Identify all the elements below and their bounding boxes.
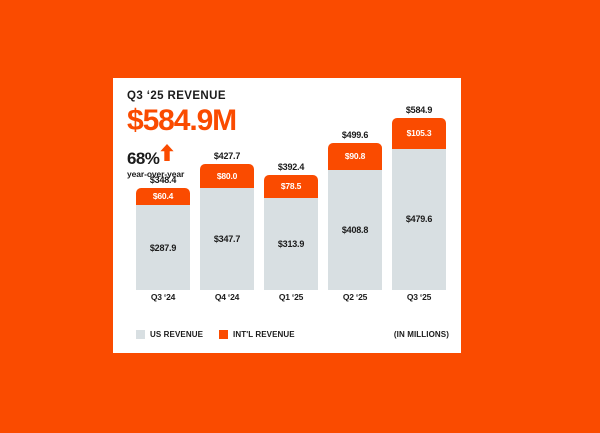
- category-label: Q2 ‘25: [328, 292, 382, 302]
- category-label: Q3 ‘25: [392, 292, 446, 302]
- bar-total-label: $348.4: [136, 175, 190, 188]
- legend-item-intl: INT'L REVENUE: [219, 330, 295, 339]
- bar-group[interactable]: $392.4$78.5$313.9: [264, 175, 318, 290]
- legend-swatch-us-icon: [136, 330, 145, 339]
- bar-segment-intl[interactable]: $105.3: [392, 118, 446, 149]
- legend-swatch-intl-icon: [219, 330, 228, 339]
- bar-segment-us[interactable]: $347.7: [200, 188, 254, 290]
- category-axis: Q3 ‘24Q4 ‘24Q1 ‘25Q2 ‘25Q3 ‘25: [136, 292, 446, 306]
- revenue-chart-card: Q3 ‘25 REVENUE $584.9M 68% year-over-yea…: [113, 78, 461, 353]
- units-note: (IN MILLIONS): [394, 330, 449, 339]
- bar-segment-us[interactable]: $313.9: [264, 198, 318, 290]
- category-label: Q1 ‘25: [264, 292, 318, 302]
- bar-group[interactable]: $499.6$90.8$408.8: [328, 143, 382, 290]
- category-label: Q4 ‘24: [200, 292, 254, 302]
- bar-group[interactable]: $427.7$80.0$347.7: [200, 164, 254, 290]
- bar-segment-us[interactable]: $287.9: [136, 205, 190, 290]
- bar-total-label: $427.7: [200, 151, 254, 164]
- bar-total-label: $499.6: [328, 130, 382, 143]
- legend-item-us: US REVENUE: [136, 330, 203, 339]
- chart-kicker: Q3 ‘25 REVENUE: [127, 90, 236, 102]
- bar-group[interactable]: $348.4$60.4$287.9: [136, 188, 190, 290]
- bar-total-label: $392.4: [264, 162, 318, 175]
- bar-segment-intl[interactable]: $90.8: [328, 143, 382, 170]
- category-label: Q3 ‘24: [136, 292, 190, 302]
- bar-segment-us[interactable]: $479.6: [392, 149, 446, 290]
- chart-legend: US REVENUE INT'L REVENUE (IN MILLIONS): [136, 330, 449, 339]
- bar-segment-us[interactable]: $408.8: [328, 170, 382, 290]
- bar-segment-intl[interactable]: $60.4: [136, 188, 190, 206]
- legend-label-intl: INT'L REVENUE: [233, 330, 295, 339]
- legend-label-us: US REVENUE: [150, 330, 203, 339]
- bar-segment-intl[interactable]: $80.0: [200, 164, 254, 188]
- chart-canvas: Q3 ‘25 REVENUE $584.9M 68% year-over-yea…: [0, 0, 600, 433]
- stacked-bar-plot: $348.4$60.4$287.9$427.7$80.0$347.7$392.4…: [136, 118, 446, 290]
- bar-group[interactable]: $584.9$105.3$479.6: [392, 118, 446, 290]
- bar-segment-intl[interactable]: $78.5: [264, 175, 318, 198]
- bar-total-label: $584.9: [392, 105, 446, 118]
